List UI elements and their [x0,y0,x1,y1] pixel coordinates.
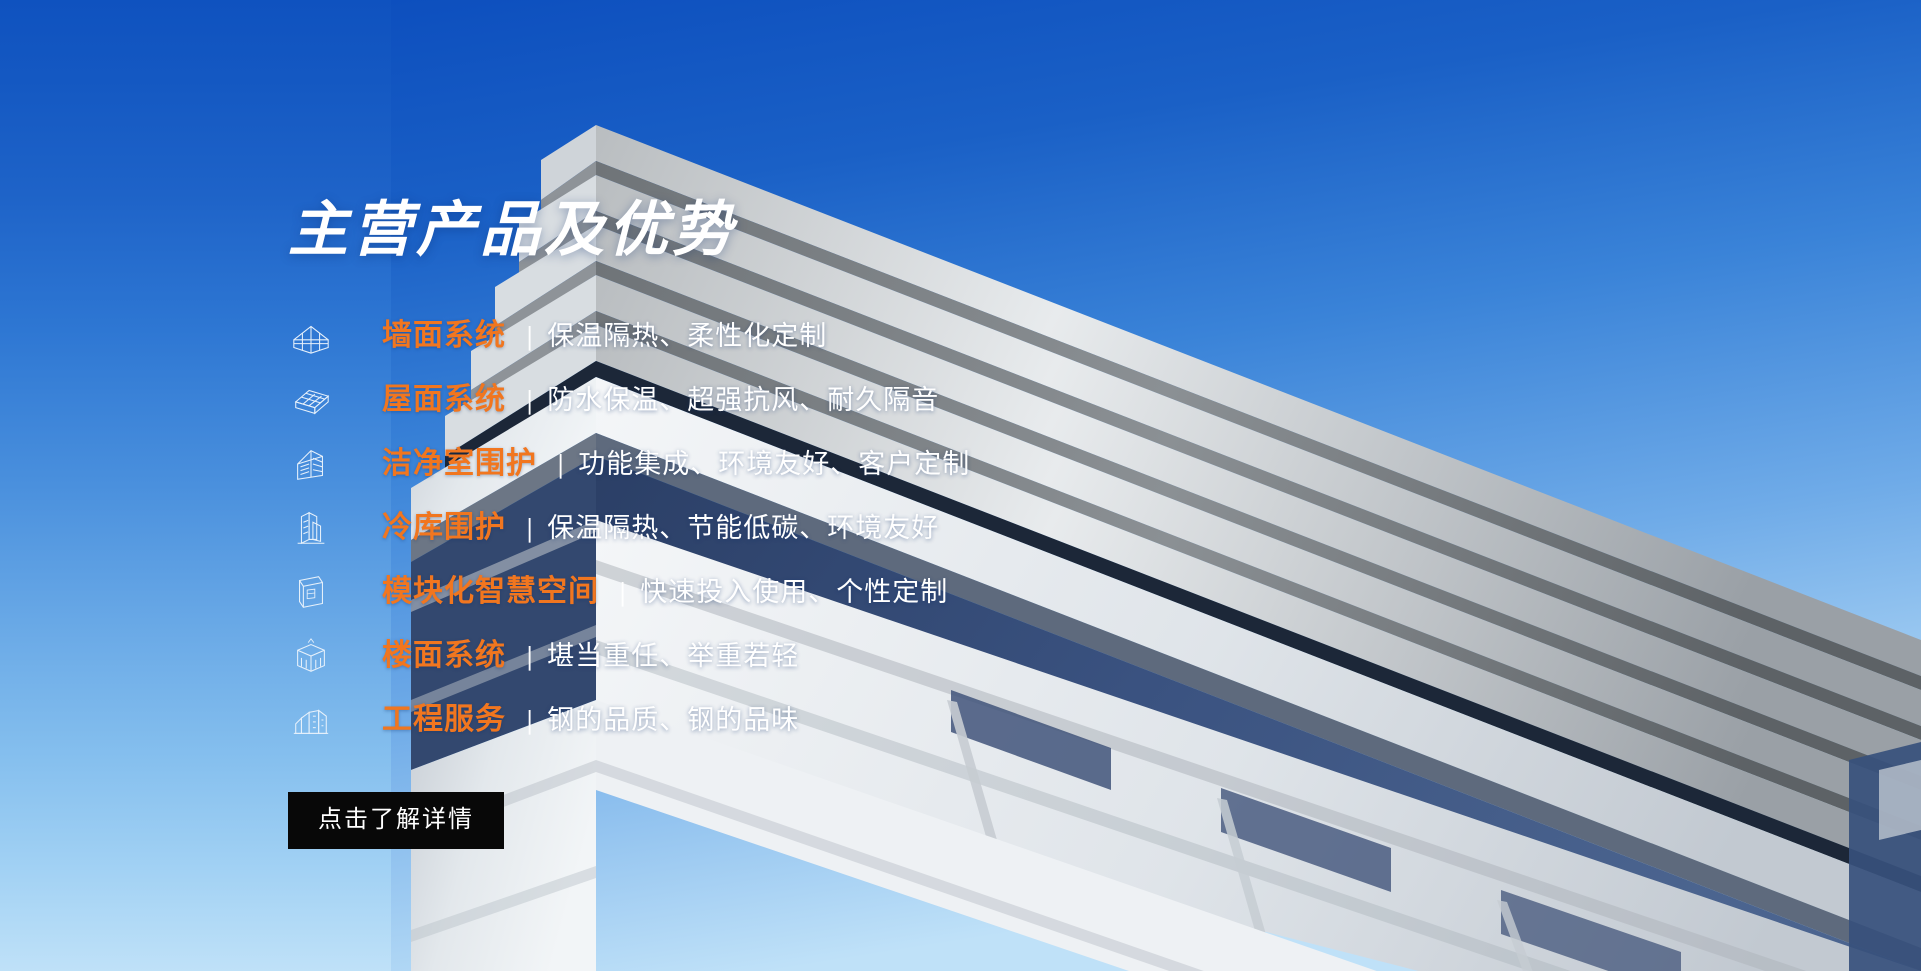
product-list: 墙面系统 | 保温隔热、柔性化定制 屋面系统 [288,304,1188,752]
separator-bar: | [528,387,532,413]
product-name: 冷库围护 [382,513,506,543]
product-desc: 防水保温、超强抗风、耐久隔音 [547,387,939,414]
list-item[interactable]: 墙面系统 | 保温隔热、柔性化定制 [288,304,1188,368]
separator-bar: | [528,515,532,541]
product-name: 洁净室围护 [382,449,537,479]
list-item[interactable]: 屋面系统 | 防水保温、超强抗风、耐久隔音 [288,368,1188,432]
separator-bar: | [528,323,532,349]
product-name: 墙面系统 [382,321,506,351]
list-item[interactable]: 楼面系统 | 堪当重任、举重若轻 [288,624,1188,688]
product-desc: 堪当重任、举重若轻 [547,643,799,670]
roof-slab-wireframe-icon [288,377,334,423]
product-desc: 钢的品质、钢的品味 [547,707,799,734]
product-name: 模块化智慧空间 [382,577,599,607]
floor-deck-cube-wireframe-icon [288,633,334,679]
separator-bar: | [528,707,532,733]
separator-bar: | [528,643,532,669]
product-desc: 保温隔热、节能低碳、环境友好 [547,515,939,542]
product-name: 屋面系统 [382,385,506,415]
banner-content: 主营产品及优势 墙面系统 | 保温隔热、柔性化定制 [288,200,1188,849]
list-item[interactable]: 冷库围护 | 保温隔热、节能低碳、环境友好 [288,496,1188,560]
list-item[interactable]: 工程服务 | 钢的品质、钢的品味 [288,688,1188,752]
adjacent-building-wing [1849,742,1921,971]
list-item[interactable]: 洁净室围护 | 功能集成、环境友好、客户定制 [288,432,1188,496]
modular-cube-wireframe-icon [288,569,334,615]
page-title: 主营产品及优势 [288,200,1188,260]
product-name: 工程服务 [382,705,506,735]
product-name: 楼面系统 [382,641,506,671]
product-advantages-banner: 主营产品及优势 墙面系统 | 保温隔热、柔性化定制 [0,0,1921,971]
learn-more-button[interactable]: 点击了解详情 [288,792,504,849]
separator-bar: | [559,451,563,477]
coldstorage-tower-wireframe-icon [288,505,334,551]
cleanroom-building-wireframe-icon [288,441,334,487]
separator-bar: | [621,579,625,605]
product-desc: 功能集成、环境友好、客户定制 [578,451,970,478]
engineering-service-factory-icon [288,697,334,743]
product-desc: 快速投入使用、个性定制 [640,579,948,606]
product-desc: 保温隔热、柔性化定制 [547,323,827,350]
wall-panel-wireframe-icon [288,313,334,359]
list-item[interactable]: 模块化智慧空间 | 快速投入使用、个性定制 [288,560,1188,624]
